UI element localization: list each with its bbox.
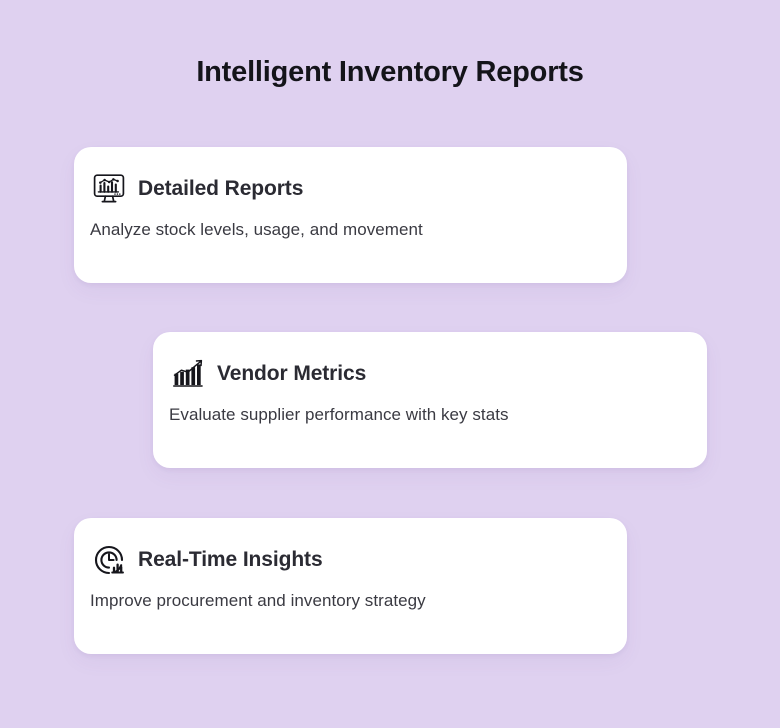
feature-card-vendor-metrics[interactable]: Vendor Metrics Evaluate supplier perform…: [153, 332, 707, 468]
feature-card-detailed-reports[interactable]: Detailed Reports Analyze stock levels, u…: [74, 147, 627, 283]
card-header: Vendor Metrics: [169, 354, 691, 394]
card-header: Detailed Reports: [90, 169, 611, 209]
card-title: Real-Time Insights: [138, 548, 323, 572]
clock-analytics-icon: [90, 541, 128, 579]
card-description: Evaluate supplier performance with key s…: [169, 405, 691, 425]
card-description: Analyze stock levels, usage, and movemen…: [90, 220, 611, 240]
feature-card-real-time-insights[interactable]: Real-Time Insights Improve procurement a…: [74, 518, 627, 654]
card-content: Vendor Metrics Evaluate supplier perform…: [169, 354, 691, 425]
card-description: Improve procurement and inventory strate…: [90, 591, 611, 611]
card-title: Vendor Metrics: [217, 362, 366, 386]
bar-chart-growth-icon: [169, 355, 207, 393]
monitor-analytics-icon: [90, 170, 128, 208]
page-title: Intelligent Inventory Reports: [0, 53, 780, 91]
card-content: Real-Time Insights Improve procurement a…: [90, 540, 611, 611]
card-content: Detailed Reports Analyze stock levels, u…: [90, 169, 611, 240]
card-header: Real-Time Insights: [90, 540, 611, 580]
card-title: Detailed Reports: [138, 177, 303, 201]
